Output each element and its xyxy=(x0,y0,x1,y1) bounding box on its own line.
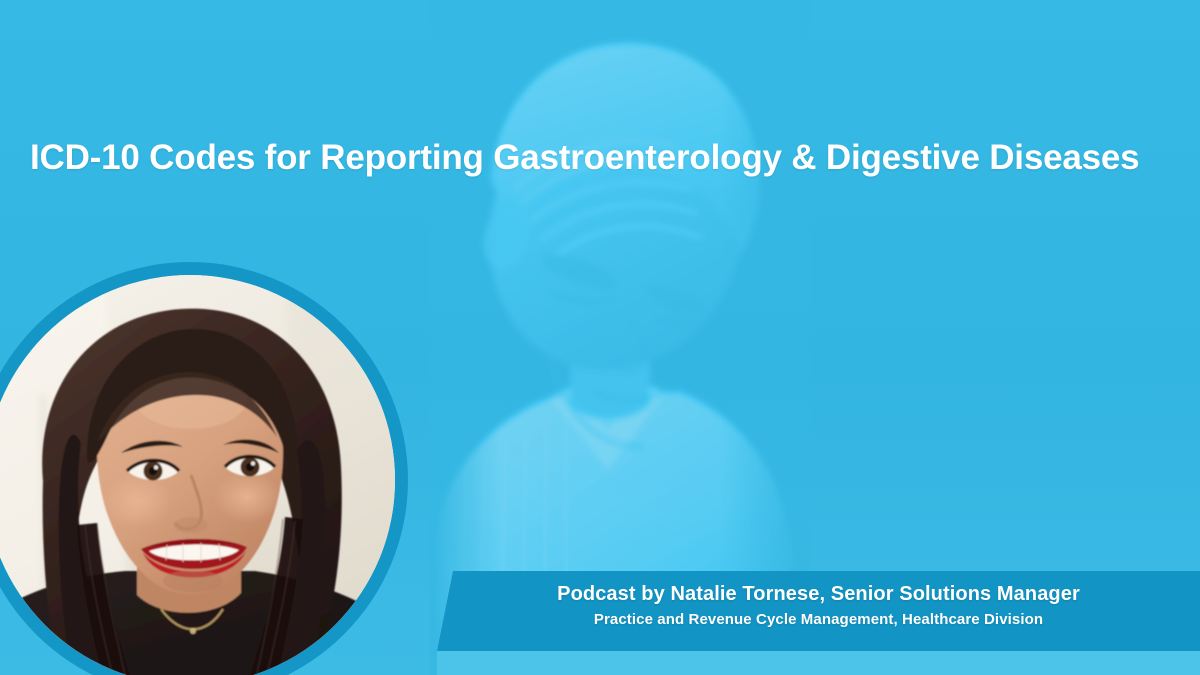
banner-footer-strip xyxy=(437,651,1200,675)
speaker-division-line: Practice and Revenue Cycle Management, H… xyxy=(437,608,1200,631)
speaker-banner-text: Podcast by Natalie Tornese, Senior Solut… xyxy=(437,571,1200,631)
speaker-banner: Podcast by Natalie Tornese, Senior Solut… xyxy=(437,571,1200,651)
slide-canvas: ICD-10 Codes for Reporting Gastroenterol… xyxy=(0,0,1200,675)
speaker-name-line: Podcast by Natalie Tornese, Senior Solut… xyxy=(437,581,1200,608)
background-photo-fade-top xyxy=(430,0,810,40)
avatar-photo xyxy=(0,275,395,675)
page-title: ICD-10 Codes for Reporting Gastroenterol… xyxy=(30,136,1180,180)
